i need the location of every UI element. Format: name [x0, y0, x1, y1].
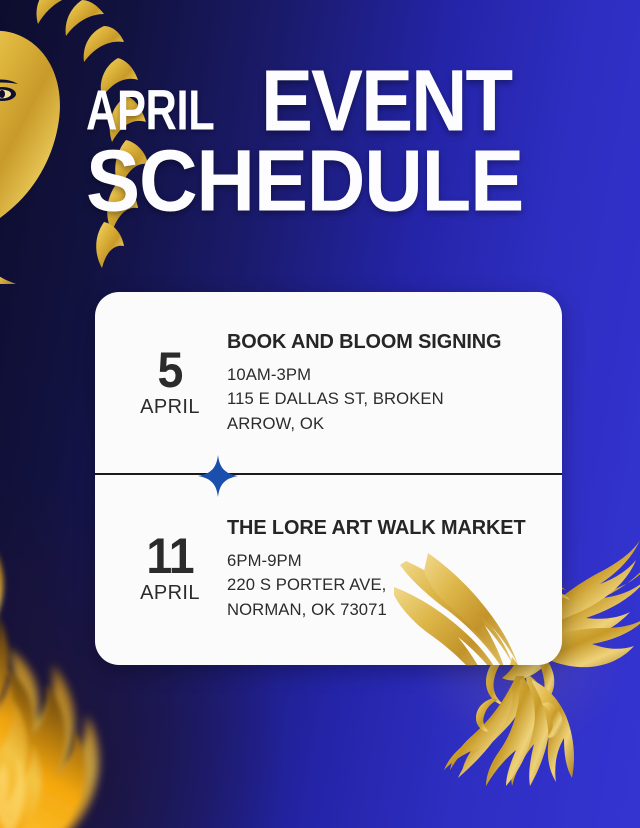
event-row[interactable]: 5 APRIL BOOK AND BLOOM SIGNING 10AM-3PM …: [95, 292, 562, 474]
event-address-line-1: 220 S PORTER AVE,: [227, 573, 542, 597]
event-day: 5: [117, 347, 223, 393]
event-divider: [95, 473, 562, 475]
event-date-block: 5 APRIL: [113, 347, 227, 420]
event-address-line-1: 115 E DALLAS ST, BROKEN: [227, 387, 542, 411]
headline-word-event: EVENT: [261, 68, 511, 136]
event-month: APRIL: [113, 581, 227, 606]
event-address-line-2: NORMAN, OK 73071: [227, 598, 542, 622]
poster-headline: APRIL EVENT SCHEDULE: [86, 72, 586, 212]
event-schedule-poster: APRIL EVENT SCHEDULE: [0, 0, 640, 828]
event-time: 6PM-9PM: [227, 549, 542, 573]
event-title: THE LORE ART WALK MARKET: [227, 516, 538, 540]
event-address-line-2: ARROW, OK: [227, 412, 542, 436]
headline-kicker: APRIL: [86, 89, 214, 136]
event-info: BOOK AND BLOOM SIGNING 10AM-3PM 115 E DA…: [227, 330, 562, 436]
event-month: APRIL: [113, 395, 227, 420]
event-date-block: 11 APRIL: [113, 533, 227, 606]
event-title: BOOK AND BLOOM SIGNING: [227, 330, 538, 354]
schedule-card: 5 APRIL BOOK AND BLOOM SIGNING 10AM-3PM …: [95, 292, 562, 665]
event-day: 11: [117, 533, 223, 579]
headline-word-schedule: SCHEDULE: [86, 148, 581, 216]
event-time: 10AM-3PM: [227, 363, 542, 387]
event-row[interactable]: 11 APRIL THE LORE ART WALK MARKET 6PM-9P…: [95, 474, 562, 664]
event-info: THE LORE ART WALK MARKET 6PM-9PM 220 S P…: [227, 516, 562, 622]
sparkle-icon: [198, 455, 238, 497]
